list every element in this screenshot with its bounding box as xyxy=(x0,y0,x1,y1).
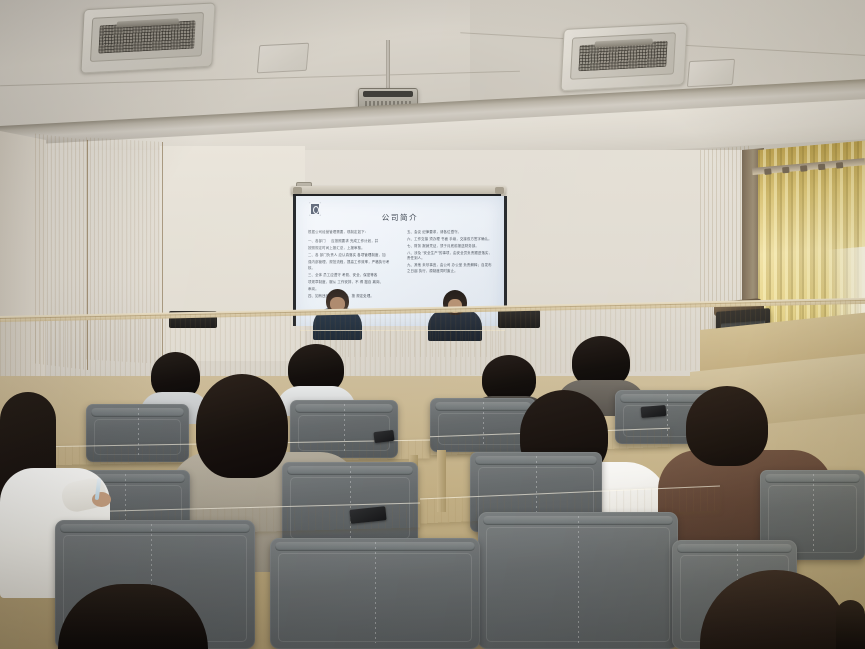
audience-chair[interactable] xyxy=(478,512,678,649)
slide-body-line: 三、全体 员工应遵守 考勤、安全、保密等各 xyxy=(308,273,395,278)
slide-body-line: 按照规定时间上报汇总，上报审核。 xyxy=(308,246,395,251)
slide-body-line: 串岗。 xyxy=(308,287,395,292)
audience-chair[interactable] xyxy=(270,538,480,649)
slide-body-line: 五、会议 纪律要求，请各位遵守。 xyxy=(407,230,494,235)
projector-mount-pole xyxy=(386,40,390,90)
slide-body-line: 六、工作交接 须办理 书面 手续，交接双方签字确认。 xyxy=(407,237,494,242)
smartphone-on-desk-3[interactable] xyxy=(641,405,667,418)
slide-body-line: 四、如有违反 上述规定的，按 规定处理。 xyxy=(308,294,395,299)
attendee-ponytail-woman-head xyxy=(196,374,288,478)
slide-lead-line: 根据公司经营管理需要，现制定如下： xyxy=(308,230,395,235)
ceiling-vent-right-icon xyxy=(687,59,735,88)
slide-body-line: 九、其他 未尽事宜，由公司 办公室 负责解释；自发布之日起 执行，原制度同时废止… xyxy=(407,263,494,274)
attendee-brown-shirt-head xyxy=(686,386,768,466)
ceiling-cassette-air-conditioner-right-icon xyxy=(561,23,686,90)
slide-left-column: 根据公司经营管理需要，现制定如下： 一、各部门 应按照要求 完成工作计划，并 按… xyxy=(308,230,395,301)
conference-room-photo: 公司简介 根据公司经营管理需要，现制定如下： 一、各部门 应按照要求 完成工作计… xyxy=(0,0,865,649)
slide-body-line: 强内部管理，规范流程，提高工作效率，严格执行考核。 xyxy=(308,260,395,271)
slide-body-line: 二、各 部门负责人 应认真落实 各项管理制度，加 xyxy=(308,253,395,258)
attendee-far-right-edge-head xyxy=(836,600,865,649)
slide-body-line: 七、财务 报销凭证，须于月底前报送财务部。 xyxy=(407,244,494,249)
slide-body-line: 一、各部门 应按照要求 完成工作计划，并 xyxy=(308,239,395,244)
ceiling-cassette-air-conditioner-left-icon xyxy=(80,2,213,71)
slide-body-line: 项规章制度，服从 工作安排，不 得 擅自 离岗、 xyxy=(308,280,395,285)
slide-title: 公司简介 xyxy=(296,212,504,223)
slide-body-line: 八、涉及 “安全生产”的事项，由安全员负责跟进落实，责任到人。 xyxy=(407,251,494,262)
ceiling-vent-left-icon xyxy=(257,43,309,74)
